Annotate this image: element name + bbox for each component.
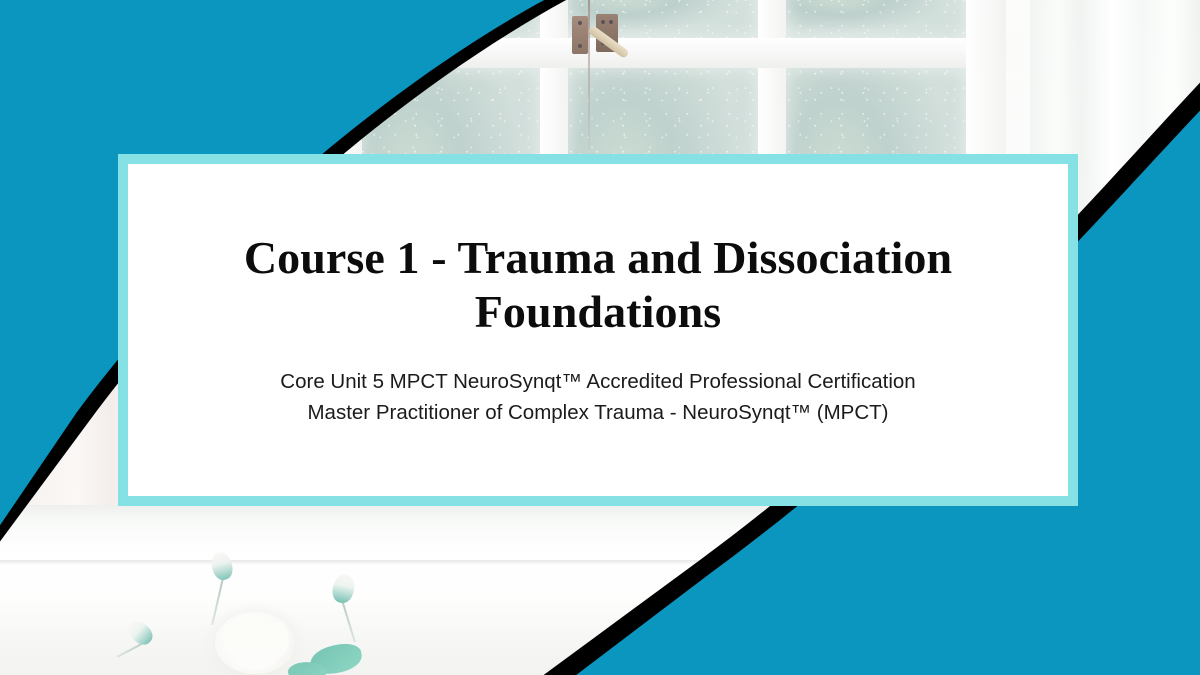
subtitle-line-1: Core Unit 5 MPCT NeuroSynqt™ Accredited … — [280, 366, 915, 398]
title-card: Course 1 - Trauma and Dissociation Found… — [118, 154, 1078, 506]
subtitle-block: Core Unit 5 MPCT NeuroSynqt™ Accredited … — [280, 366, 915, 430]
slide-canvas: Course 1 - Trauma and Dissociation Found… — [0, 0, 1200, 675]
title-card-inner: Course 1 - Trauma and Dissociation Found… — [128, 164, 1068, 496]
page-title: Course 1 - Trauma and Dissociation Found… — [178, 231, 1018, 340]
subtitle-line-2: Master Practitioner of Complex Trauma - … — [280, 397, 915, 429]
